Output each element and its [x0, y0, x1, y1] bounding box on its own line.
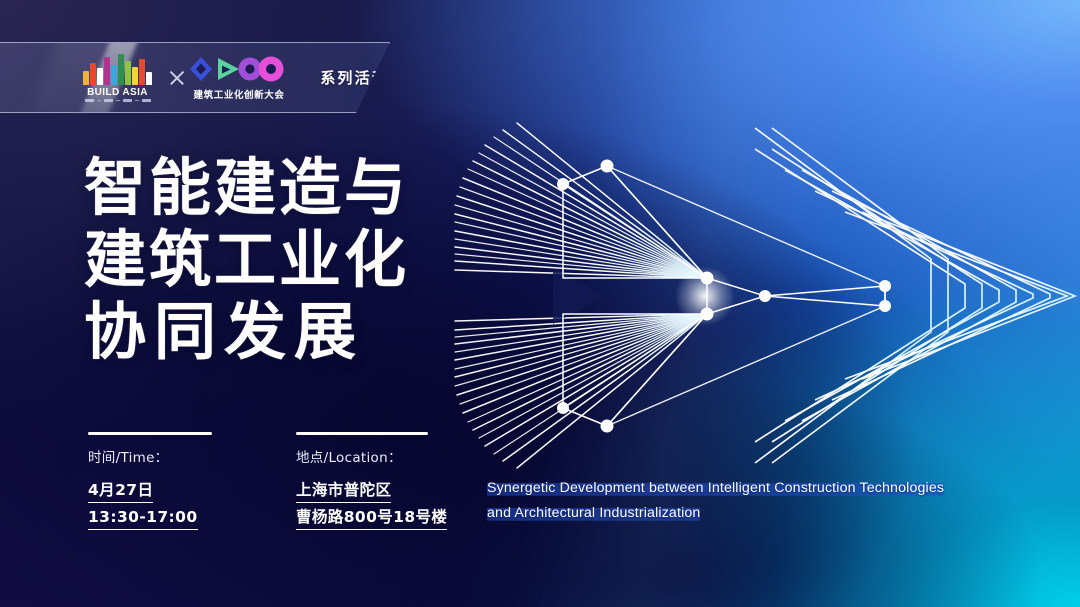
x-cross-icon: [168, 69, 172, 87]
title-line-3: 协同发展: [84, 296, 484, 368]
header-badge-bar: BUILD ASIA 建筑工业化创新大会: [0, 42, 390, 113]
abstract-network-arrow-graphic: [455, 118, 1075, 463]
title-line-2: 建筑工业化: [84, 224, 484, 296]
location-address: 曹杨路800号18号楼: [296, 507, 447, 530]
info-rule: [88, 432, 212, 435]
english-subtitle: Synergetic Development between Intellige…: [487, 476, 1017, 526]
time-date: 4月27日: [88, 480, 153, 503]
time-hours: 13:30-17:00: [88, 507, 198, 530]
subtitle-line-1-wrap: Synergetic Development between Intellige…: [487, 476, 1017, 501]
main-title: 智能建造与 建筑工业化 协同发展: [84, 152, 484, 368]
subtitle-line-1: Synergetic Development between Intellige…: [487, 480, 944, 496]
skyline-bars-icon: [83, 53, 152, 85]
subtitle-line-2-wrap: and Architectural Industrialization: [487, 501, 1017, 526]
location-district: 上海市普陀区: [296, 480, 391, 503]
location-label: 地点/Location：: [296, 446, 447, 466]
conference-name: 建筑工业化创新大会: [187, 87, 291, 101]
event-info: 时间/Time： 4月27日 13:30-17:00 地点/Location： …: [88, 432, 447, 534]
subtitle-line-2: and Architectural Industrialization: [487, 505, 700, 521]
info-block-time: 时间/Time： 4月27日 13:30-17:00: [88, 432, 212, 534]
promo-banner: BUILD ASIA 建筑工业化创新大会: [0, 0, 1080, 607]
build-asia-subtext: [83, 99, 152, 102]
info-rule: [296, 432, 428, 435]
conference-logo[interactable]: 建筑工业化创新大会: [187, 54, 291, 101]
abstract-shapes-icon: [187, 54, 291, 84]
info-block-location: 地点/Location： 上海市普陀区 曹杨路800号18号楼: [296, 432, 447, 534]
time-values: 4月27日 13:30-17:00: [88, 480, 212, 530]
title-line-1: 智能建造与: [84, 152, 484, 224]
location-values: 上海市普陀区 曹杨路800号18号楼: [296, 480, 447, 530]
build-asia-logo[interactable]: BUILD ASIA: [83, 53, 152, 102]
time-label: 时间/Time：: [88, 446, 212, 466]
build-asia-wordmark: BUILD ASIA: [83, 87, 152, 98]
